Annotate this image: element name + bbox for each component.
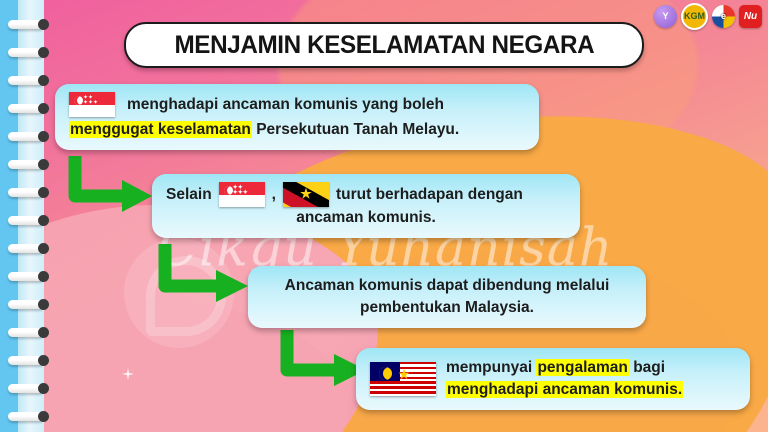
content-box-3: Ancaman komunis dapat dibendung melalui … — [248, 266, 646, 328]
box-2-prefix: Selain — [166, 184, 212, 206]
spiral-ring — [8, 132, 44, 141]
spiral-ring — [8, 160, 44, 169]
badge-ty-logo: Y — [654, 5, 677, 28]
box-1-highlight: menggugat keselamatan — [69, 121, 252, 138]
box-1-line-2-tail: Persekutuan Tanah Melayu. — [252, 121, 459, 138]
box-4-tail: bagi — [629, 359, 665, 376]
badge-kgm-label: KGM — [684, 12, 705, 21]
spiral-ring — [8, 328, 44, 337]
box-4-prefix: mempunyai — [446, 359, 536, 376]
content-box-2: Selain ✦✦✦✦✦ , ★ turut berhadapan dengan… — [152, 174, 580, 238]
box-1-line-1: menghadapi ancaman komunis yang boleh — [127, 94, 444, 116]
singapore-flag: ✦✦✦✦✦ — [69, 92, 115, 117]
badge-malaysia-label: e — [721, 12, 726, 21]
spiral-ring — [8, 300, 44, 309]
content-box-4: ★ mempunyai pengalaman bagi menghadapi a… — [356, 348, 750, 410]
spiral-ring — [8, 20, 44, 29]
page-title-text: MENJAMIN KESELAMATAN NEGARA — [174, 31, 594, 60]
badge-red-script-logo: Nu — [739, 5, 762, 28]
malaysia-flag: ★ — [370, 362, 436, 396]
page-title: MENJAMIN KESELAMATAN NEGARA — [124, 22, 644, 68]
spiral-ring — [8, 76, 44, 85]
singapore-flag: ✦✦✦✦✦ — [219, 182, 265, 207]
spiral-ring — [8, 272, 44, 281]
arrow-box2-to-box3 — [156, 240, 252, 306]
spiral-ring — [8, 384, 44, 393]
spiral-ring — [8, 216, 44, 225]
box-2-middle: turut berhadapan dengan — [336, 184, 523, 206]
sarawak-flag: ★ — [283, 182, 329, 207]
badge-malaysia-logo: e — [712, 5, 735, 28]
badge-red-script-label: Nu — [744, 12, 757, 22]
box-3-line-2: pembentukan Malaysia. — [262, 297, 632, 319]
box-4-highlight-1: pengalaman — [536, 359, 628, 376]
box-2-line-2: ancaman komunis. — [166, 207, 566, 229]
slide-canvas: Cikgu Yuhanisah MENJAMIN KESELAMATAN NEG… — [0, 0, 768, 432]
spiral-ring — [8, 104, 44, 113]
spiral-ring — [8, 412, 44, 421]
spiral-ring — [8, 244, 44, 253]
spiral-ring — [8, 48, 44, 57]
badge-kgm-logo: KGM — [681, 3, 708, 30]
spiral-ring — [8, 356, 44, 365]
content-box-1: ✦✦✦✦✦ menghadapi ancaman komunis yang bo… — [55, 84, 539, 150]
logo-badge-group: Y KGM e Nu — [654, 3, 762, 30]
spiral-ring — [8, 188, 44, 197]
box-4-highlight-2: menghadapi ancaman komunis. — [446, 381, 683, 398]
box-2-comma: , — [272, 184, 276, 206]
badge-ty-label: Y — [662, 12, 668, 21]
arrow-box1-to-box2 — [66, 152, 156, 218]
box-3-line-1: Ancaman komunis dapat dibendung melalui — [262, 275, 632, 297]
